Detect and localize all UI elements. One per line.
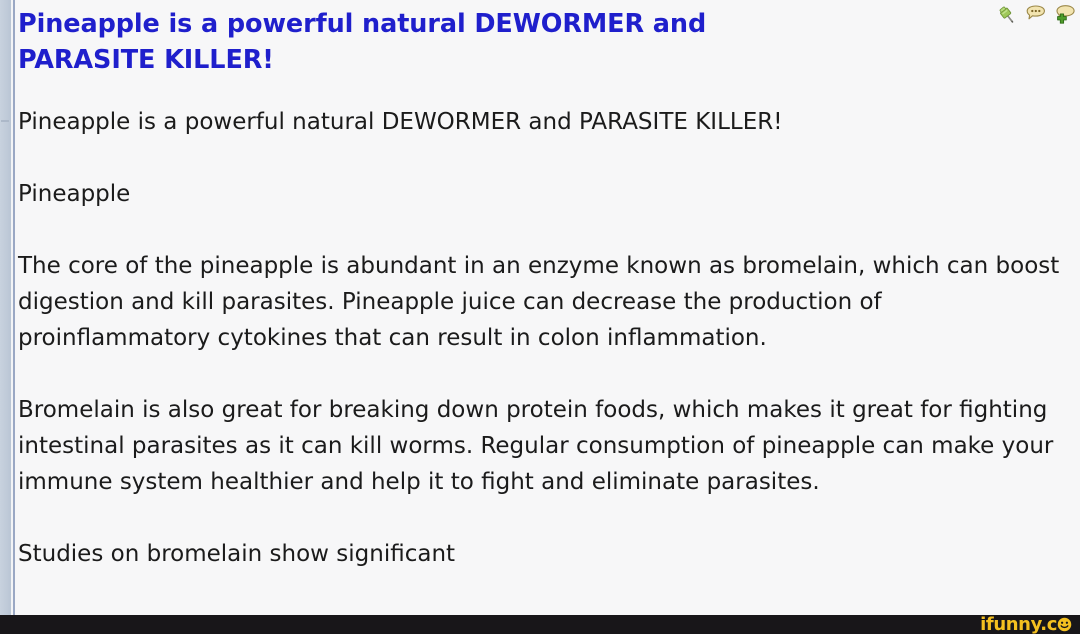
meme-screenshot: Pineapple is a powerful natural DEWORMER… bbox=[0, 0, 1080, 634]
paragraph-3: The core of the pineapple is abundant in… bbox=[18, 248, 1066, 356]
document-content: Pineapple is a powerful natural DEWORMER… bbox=[15, 0, 1080, 572]
comment-bubble-icon[interactable] bbox=[1024, 3, 1048, 27]
pushpin-icon[interactable] bbox=[996, 3, 1020, 27]
paragraph-2: Pineapple bbox=[18, 176, 1066, 212]
bottom-black-bar bbox=[0, 615, 1080, 634]
page-title: Pineapple is a powerful natural DEWORMER… bbox=[18, 6, 808, 78]
vertical-scrollbar-track[interactable] bbox=[0, 0, 11, 634]
annotation-toolbar bbox=[994, 2, 1076, 28]
paragraph-5-clipped: Studies on bromelain show significant bbox=[18, 536, 1066, 572]
smiley-face-icon bbox=[1057, 617, 1072, 632]
add-comment-bubble-icon[interactable] bbox=[1052, 3, 1076, 27]
document-pane: Pineapple is a powerful natural DEWORMER… bbox=[15, 0, 1080, 634]
paragraph-4: Bromelain is also great for breaking dow… bbox=[18, 392, 1066, 500]
ifunny-watermark: ifunny.c bbox=[980, 615, 1072, 634]
watermark-text: ifunny.c bbox=[980, 615, 1057, 634]
scrollbar-tick-mark bbox=[1, 120, 9, 122]
paragraph-1: Pineapple is a powerful natural DEWORMER… bbox=[18, 104, 1066, 140]
